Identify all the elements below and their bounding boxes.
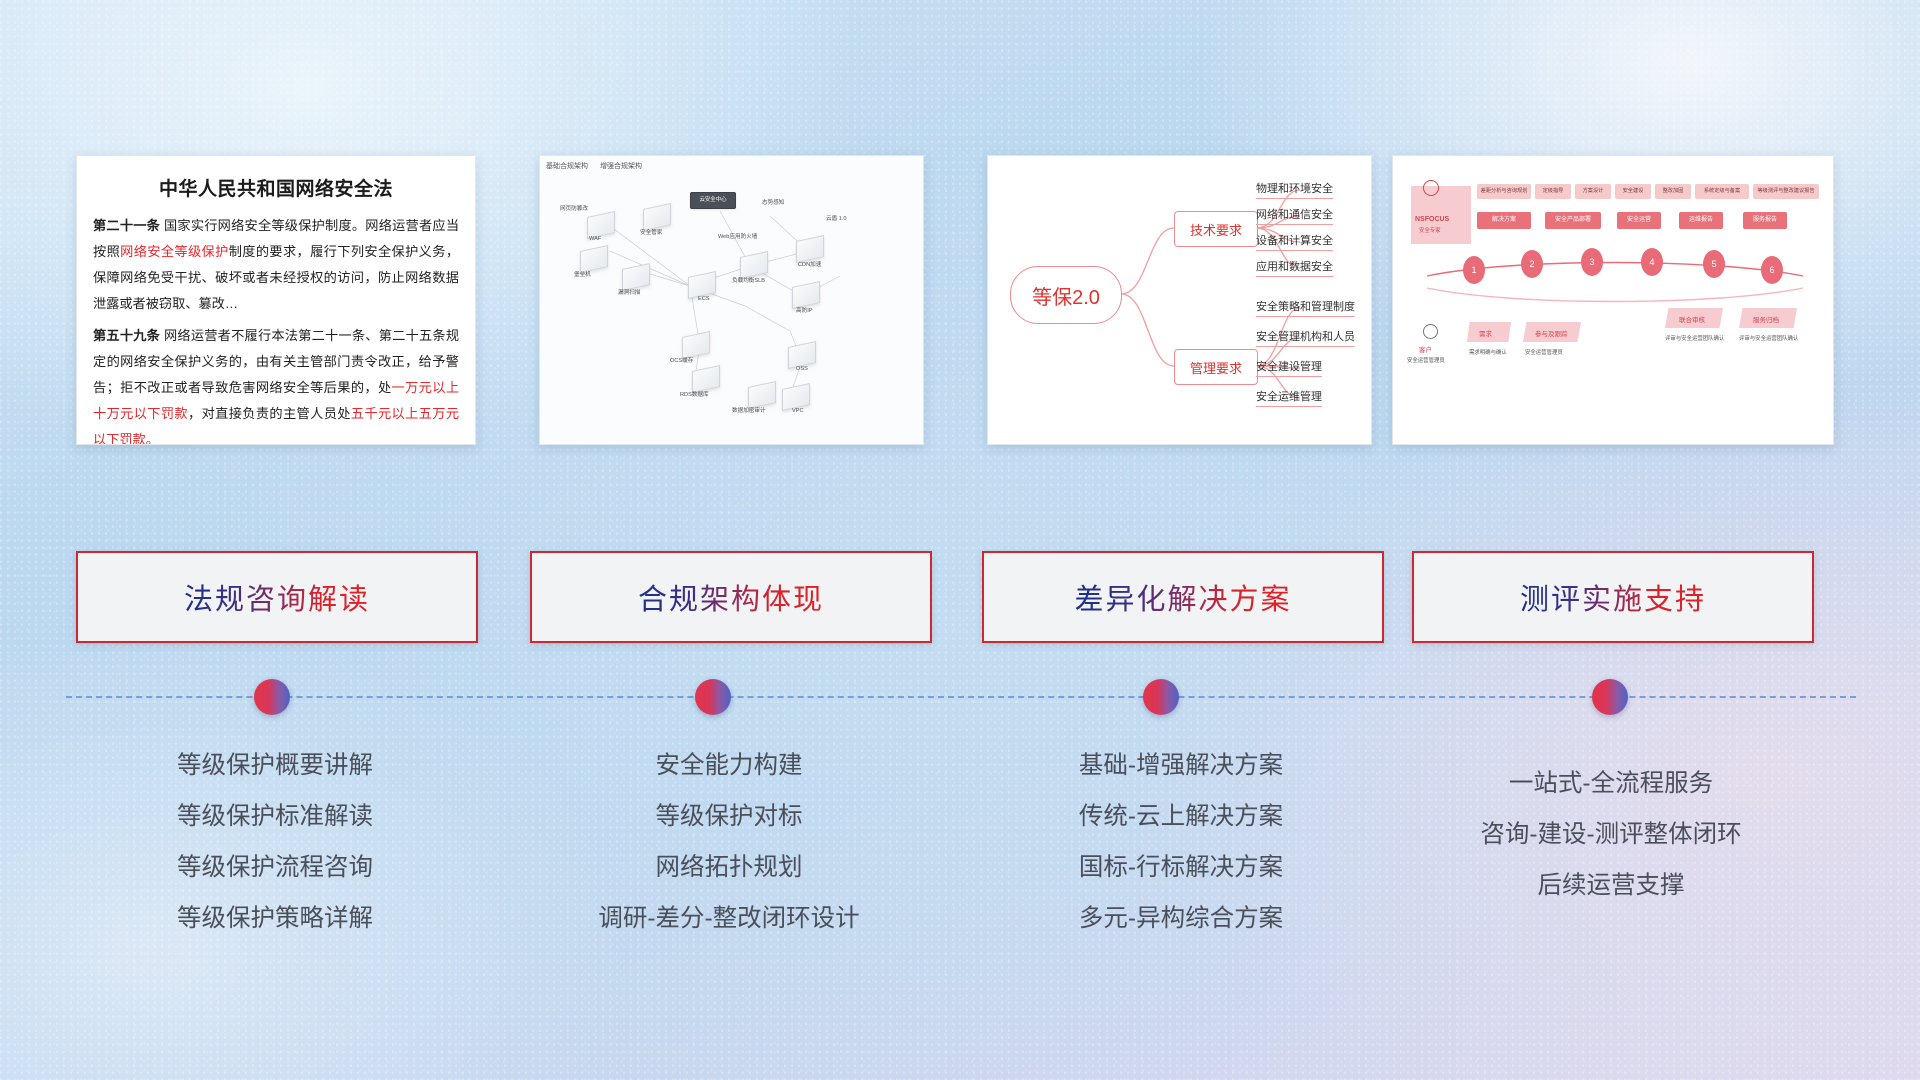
law-text-card: 中华人民共和国网络安全法 第二十一条 国家实行网络安全等级保护制度。网络运营者应… xyxy=(76,155,476,445)
banner-label-2: 差异化解决方案 xyxy=(1074,576,1291,618)
node-label-oss-cache: OCS缓存 xyxy=(670,356,693,364)
service-timeline-card: NSFOCUS 安全专家 差距分析与咨询规划 定级指导 方案设计 安全建设 整改… xyxy=(1392,155,1834,445)
timeline-bottom-note-1: 安全运营管理员 xyxy=(1525,348,1563,356)
timeline-dashed-line xyxy=(66,696,1856,698)
timeline-dot-3[interactable] xyxy=(1592,679,1628,715)
column-3: 一站式-全流程服务 咨询-建设-测评整体闭环 后续运营支撑 xyxy=(1412,758,1810,911)
column-3-item-1: 咨询-建设-测评整体闭环 xyxy=(1412,809,1810,860)
banner-0[interactable]: 法规咨询解读 xyxy=(76,551,478,643)
mindmap-root: 等保2.0 xyxy=(1010,266,1122,324)
banner-2[interactable]: 差异化解决方案 xyxy=(982,551,1384,643)
law-article-59: 第五十九条 网络运营者不履行本法第二十一条、第二十五条规定的网络安全保护义务的，… xyxy=(93,323,459,445)
timeline-role-left: 客户 xyxy=(1419,344,1432,354)
timeline-bottom-chip-3: 服务归档 xyxy=(1753,314,1779,324)
node-label-cdn: CDN加速 xyxy=(798,260,821,268)
node-label-rds: RDS数据库 xyxy=(680,390,709,398)
timeline-step-0: 1 xyxy=(1463,256,1485,284)
column-1-item-0: 安全能力构建 xyxy=(530,740,928,791)
timeline-bottom-note-2: 评审与安全运营团队确认 xyxy=(1665,334,1724,342)
mindmap-branch-technical: 技术要求 xyxy=(1174,211,1258,247)
law-article-21: 第二十一条 国家实行网络安全等级保护制度。网络运营者应当按照网络安全等级保护制度… xyxy=(93,213,459,317)
column-1-item-1: 等级保护对标 xyxy=(530,791,928,842)
timeline-role-left-sub: 安全运营管理员 xyxy=(1407,356,1445,364)
mindmap-leaf-1-0: 安全策略和管理制度 xyxy=(1256,298,1355,317)
node-label-vpc: VPC xyxy=(792,408,804,414)
article-21-label: 第二十一条 xyxy=(93,218,160,233)
column-2-item-0: 基础-增强解决方案 xyxy=(982,740,1380,791)
timeline-rail xyxy=(1393,156,1833,444)
column-1-item-3: 调研-差分-整改闭环设计 xyxy=(530,893,928,944)
banner-3[interactable]: 测评实施支持 xyxy=(1412,551,1814,643)
timeline-bottom-chip-0: 需求 xyxy=(1479,328,1492,338)
article-59-text-b: ，对直接负责的主管人员处 xyxy=(188,406,351,421)
column-1: 安全能力构建 等级保护对标 网络拓扑规划 调研-差分-整改闭环设计 xyxy=(530,740,928,944)
node-label-cloud-shield: 云盾 1.0 xyxy=(826,214,847,222)
column-0: 等级保护概要讲解 等级保护标准解读 等级保护流程咨询 等级保护策略详解 xyxy=(76,740,474,944)
timeline-step-4: 5 xyxy=(1703,250,1725,278)
timeline-step-3: 4 xyxy=(1641,248,1663,276)
mindmap-leaf-0-0: 物理和环境安全 xyxy=(1256,180,1333,199)
node-label-web-firewall: Web应用防火墙 xyxy=(718,232,757,240)
column-1-item-2: 网络拓扑规划 xyxy=(530,842,928,893)
mindmap-card: 等保2.0 技术要求 物理和环境安全 网络和通信安全 设备和计算安全 应用和数据… xyxy=(987,155,1372,445)
image-card-row: 中华人民共和国网络安全法 第二十一条 国家实行网络安全等级保护制度。网络运营者应… xyxy=(0,0,1920,420)
timeline-bottom-chip-2: 联合审核 xyxy=(1679,314,1705,324)
banner-label-0: 法规咨询解读 xyxy=(184,576,370,618)
timeline-bottom-note-0: 需求明确与确认 xyxy=(1469,348,1507,356)
mindmap-leaf-0-3: 应用和数据安全 xyxy=(1256,258,1333,277)
timeline-bottom-note-3: 评审与安全运营团队确认 xyxy=(1739,334,1798,342)
timeline-step-5: 6 xyxy=(1761,256,1783,284)
column-2-item-2: 国标-行标解决方案 xyxy=(982,842,1380,893)
customer-avatar-icon xyxy=(1423,324,1438,339)
node-label-security-butler: 安全管家 xyxy=(640,228,662,236)
timeline-dot-0[interactable] xyxy=(254,679,290,715)
node-label-slb: 负载均衡SLB xyxy=(732,276,765,284)
column-0-item-1: 等级保护标准解读 xyxy=(76,791,474,842)
column-0-item-3: 等级保护策略详解 xyxy=(76,893,474,944)
node-label-bastion: 堡垒机 xyxy=(574,270,591,278)
banner-1[interactable]: 合规架构体现 xyxy=(530,551,932,643)
mindmap-branch-management: 管理要求 xyxy=(1174,349,1258,385)
mindmap-leaf-1-2: 安全建设管理 xyxy=(1256,358,1322,377)
banner-label-1: 合规架构体现 xyxy=(638,576,824,618)
node-label-ecs: ECS xyxy=(698,296,710,302)
node-label-tamper-proof: 网页防篡改 xyxy=(560,204,588,212)
node-label-anti-ddos: 高防IP xyxy=(796,306,812,314)
timeline-dot-2[interactable] xyxy=(1143,679,1179,715)
node-label-situation-awareness: 态势感知 xyxy=(762,198,784,206)
article-21-highlight: 网络安全等级保护 xyxy=(120,244,229,259)
column-2: 基础-增强解决方案 传统-云上解决方案 国标-行标解决方案 多元-异构综合方案 xyxy=(982,740,1380,944)
column-3-item-0: 一站式-全流程服务 xyxy=(1412,758,1810,809)
column-3-item-2: 后续运营支撑 xyxy=(1412,860,1810,911)
article-59-label: 第五十九条 xyxy=(93,328,160,343)
law-card-title: 中华人民共和国网络安全法 xyxy=(93,174,459,201)
mindmap-leaf-1-3: 安全运维管理 xyxy=(1256,388,1322,407)
banner-label-3: 测评实施支持 xyxy=(1520,576,1706,618)
mindmap-leaf-0-2: 设备和计算安全 xyxy=(1256,232,1333,251)
column-0-item-0: 等级保护概要讲解 xyxy=(76,740,474,791)
node-label-oss: OSS xyxy=(796,366,808,372)
timeline-step-1: 2 xyxy=(1521,250,1543,278)
column-0-item-2: 等级保护流程咨询 xyxy=(76,842,474,893)
node-cloud-security-center: 云安全中心 xyxy=(690,192,736,209)
timeline-step-2: 3 xyxy=(1581,248,1603,276)
node-label-waf: WAF xyxy=(589,236,601,242)
column-2-item-1: 传统-云上解决方案 xyxy=(982,791,1380,842)
mindmap-leaf-1-1: 安全管理机构和人员 xyxy=(1256,328,1355,347)
node-label-vuln-scan: 漏洞扫描 xyxy=(618,288,640,296)
timeline-bottom-chip-1: 参与及跟踪 xyxy=(1535,328,1568,338)
node-label-data-audit: 数据加密审计 xyxy=(732,406,766,414)
mindmap-leaf-0-1: 网络和通信安全 xyxy=(1256,206,1333,225)
column-2-item-3: 多元-异构综合方案 xyxy=(982,893,1380,944)
architecture-diagram-card: 基础合规架构 增强合规架构 云安全中心 WAF 堡垒机 安全管家 漏洞扫描 EC… xyxy=(539,155,924,445)
timeline-dot-1[interactable] xyxy=(695,679,731,715)
